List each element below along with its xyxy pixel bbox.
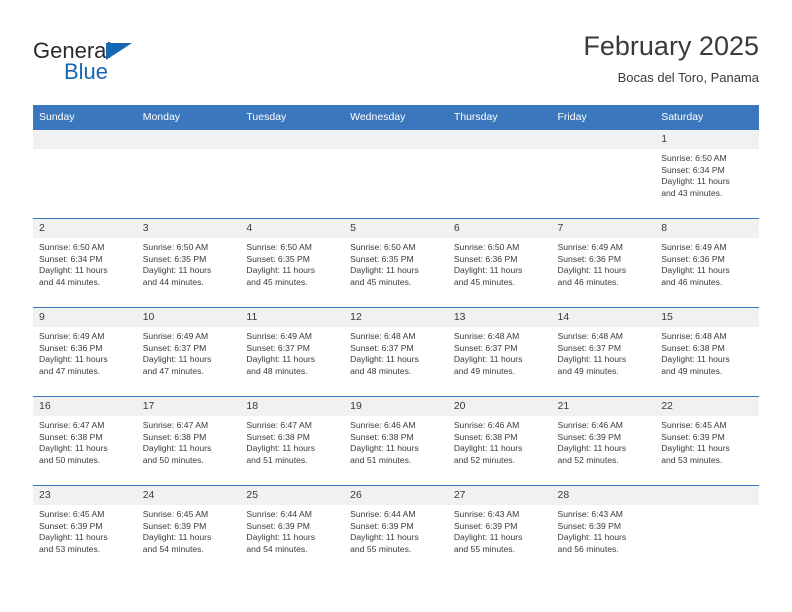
daylight-text-cont: and 55 minutes. (454, 544, 545, 556)
day-box (33, 130, 137, 218)
day-number: 9 (33, 308, 137, 327)
day-sun-info: Sunrise: 6:45 AMSunset: 6:39 PMDaylight:… (137, 505, 241, 555)
sunset-text: Sunset: 6:39 PM (661, 432, 752, 444)
day-sun-info: Sunrise: 6:49 AMSunset: 6:37 PMDaylight:… (240, 327, 344, 377)
day-cell-22[interactable]: 22Sunrise: 6:45 AMSunset: 6:39 PMDayligh… (655, 397, 759, 486)
daylight-text: Daylight: 11 hours (246, 265, 337, 277)
sunrise-text: Sunrise: 6:49 AM (558, 242, 649, 254)
day-cell-18[interactable]: 18Sunrise: 6:47 AMSunset: 6:38 PMDayligh… (240, 397, 344, 486)
day-cell-11[interactable]: 11Sunrise: 6:49 AMSunset: 6:37 PMDayligh… (240, 308, 344, 397)
day-cell-3[interactable]: 3Sunrise: 6:50 AMSunset: 6:35 PMDaylight… (137, 219, 241, 308)
day-cell-25[interactable]: 25Sunrise: 6:44 AMSunset: 6:39 PMDayligh… (240, 486, 344, 575)
daylight-text-cont: and 44 minutes. (143, 277, 234, 289)
day-number: 5 (344, 219, 448, 238)
sunset-text: Sunset: 6:37 PM (454, 343, 545, 355)
day-number: 22 (655, 397, 759, 416)
day-number: 18 (240, 397, 344, 416)
daylight-text-cont: and 48 minutes. (350, 366, 441, 378)
day-cell-7[interactable]: 7Sunrise: 6:49 AMSunset: 6:36 PMDaylight… (552, 219, 656, 308)
daylight-text-cont: and 46 minutes. (558, 277, 649, 289)
weekday-header-saturday: Saturday (655, 105, 759, 130)
day-cell-27[interactable]: 27Sunrise: 6:43 AMSunset: 6:39 PMDayligh… (448, 486, 552, 575)
day-number: 4 (240, 219, 344, 238)
day-cell-21[interactable]: 21Sunrise: 6:46 AMSunset: 6:39 PMDayligh… (552, 397, 656, 486)
sunrise-text: Sunrise: 6:49 AM (39, 331, 130, 343)
sunrise-text: Sunrise: 6:50 AM (246, 242, 337, 254)
sunset-text: Sunset: 6:38 PM (246, 432, 337, 444)
day-number: 17 (137, 397, 241, 416)
day-cell-26[interactable]: 26Sunrise: 6:44 AMSunset: 6:39 PMDayligh… (344, 486, 448, 575)
day-cell-12[interactable]: 12Sunrise: 6:48 AMSunset: 6:37 PMDayligh… (344, 308, 448, 397)
title-block: February 2025 Bocas del Toro, Panama (583, 30, 759, 88)
daylight-text-cont: and 52 minutes. (558, 455, 649, 467)
daylight-text: Daylight: 11 hours (558, 532, 649, 544)
day-number: 11 (240, 308, 344, 327)
sunset-text: Sunset: 6:37 PM (143, 343, 234, 355)
calendar-week-row: 23Sunrise: 6:45 AMSunset: 6:39 PMDayligh… (33, 486, 759, 575)
sunset-text: Sunset: 6:36 PM (454, 254, 545, 266)
sunset-text: Sunset: 6:35 PM (350, 254, 441, 266)
day-box: 19Sunrise: 6:46 AMSunset: 6:38 PMDayligh… (344, 397, 448, 485)
daylight-text-cont: and 45 minutes. (454, 277, 545, 289)
day-number (137, 130, 241, 149)
day-number: 3 (137, 219, 241, 238)
sunrise-text: Sunrise: 6:48 AM (661, 331, 752, 343)
day-number (240, 130, 344, 149)
weekday-header-row: SundayMondayTuesdayWednesdayThursdayFrid… (33, 105, 759, 130)
day-box: 7Sunrise: 6:49 AMSunset: 6:36 PMDaylight… (552, 219, 656, 307)
sunset-text: Sunset: 6:36 PM (558, 254, 649, 266)
sunrise-text: Sunrise: 6:47 AM (143, 420, 234, 432)
day-sun-info: Sunrise: 6:47 AMSunset: 6:38 PMDaylight:… (137, 416, 241, 466)
daylight-text-cont: and 54 minutes. (246, 544, 337, 556)
generalblue-logo[interactable]: General Blue (33, 38, 233, 90)
day-box: 4Sunrise: 6:50 AMSunset: 6:35 PMDaylight… (240, 219, 344, 307)
day-cell-6[interactable]: 6Sunrise: 6:50 AMSunset: 6:36 PMDaylight… (448, 219, 552, 308)
sunrise-text: Sunrise: 6:45 AM (143, 509, 234, 521)
weekday-header-sunday: Sunday (33, 105, 137, 130)
sunset-text: Sunset: 6:39 PM (558, 432, 649, 444)
sunset-text: Sunset: 6:38 PM (143, 432, 234, 444)
page-title: February 2025 (583, 30, 759, 62)
sunset-text: Sunset: 6:39 PM (558, 521, 649, 533)
day-box: 21Sunrise: 6:46 AMSunset: 6:39 PMDayligh… (552, 397, 656, 485)
daylight-text-cont: and 46 minutes. (661, 277, 752, 289)
day-box: 25Sunrise: 6:44 AMSunset: 6:39 PMDayligh… (240, 486, 344, 574)
sunset-text: Sunset: 6:34 PM (661, 165, 752, 177)
sunset-text: Sunset: 6:39 PM (454, 521, 545, 533)
day-number: 15 (655, 308, 759, 327)
day-cell-13[interactable]: 13Sunrise: 6:48 AMSunset: 6:37 PMDayligh… (448, 308, 552, 397)
daylight-text-cont: and 54 minutes. (143, 544, 234, 556)
sunset-text: Sunset: 6:39 PM (39, 521, 130, 533)
sunset-text: Sunset: 6:38 PM (39, 432, 130, 444)
day-cell-17[interactable]: 17Sunrise: 6:47 AMSunset: 6:38 PMDayligh… (137, 397, 241, 486)
day-cell-empty (344, 130, 448, 219)
day-box: 2Sunrise: 6:50 AMSunset: 6:34 PMDaylight… (33, 219, 137, 307)
daylight-text-cont: and 53 minutes. (661, 455, 752, 467)
daylight-text: Daylight: 11 hours (246, 354, 337, 366)
day-box: 1Sunrise: 6:50 AMSunset: 6:34 PMDaylight… (655, 130, 759, 218)
day-sun-info: Sunrise: 6:44 AMSunset: 6:39 PMDaylight:… (240, 505, 344, 555)
day-cell-8[interactable]: 8Sunrise: 6:49 AMSunset: 6:36 PMDaylight… (655, 219, 759, 308)
day-box: 6Sunrise: 6:50 AMSunset: 6:36 PMDaylight… (448, 219, 552, 307)
day-box: 26Sunrise: 6:44 AMSunset: 6:39 PMDayligh… (344, 486, 448, 574)
day-number: 25 (240, 486, 344, 505)
day-sun-info: Sunrise: 6:50 AMSunset: 6:35 PMDaylight:… (137, 238, 241, 288)
sunrise-text: Sunrise: 6:45 AM (39, 509, 130, 521)
day-cell-1[interactable]: 1Sunrise: 6:50 AMSunset: 6:34 PMDaylight… (655, 130, 759, 219)
daylight-text-cont: and 51 minutes. (246, 455, 337, 467)
day-cell-15[interactable]: 15Sunrise: 6:48 AMSunset: 6:38 PMDayligh… (655, 308, 759, 397)
sunrise-text: Sunrise: 6:48 AM (558, 331, 649, 343)
daylight-text: Daylight: 11 hours (454, 443, 545, 455)
day-box: 13Sunrise: 6:48 AMSunset: 6:37 PMDayligh… (448, 308, 552, 396)
calendar-week-row: 2Sunrise: 6:50 AMSunset: 6:34 PMDaylight… (33, 219, 759, 308)
sunset-text: Sunset: 6:38 PM (350, 432, 441, 444)
daylight-text-cont: and 56 minutes. (558, 544, 649, 556)
calendar-week-row: 9Sunrise: 6:49 AMSunset: 6:36 PMDaylight… (33, 308, 759, 397)
day-cell-23[interactable]: 23Sunrise: 6:45 AMSunset: 6:39 PMDayligh… (33, 486, 137, 575)
sunrise-text: Sunrise: 6:50 AM (143, 242, 234, 254)
day-sun-info: Sunrise: 6:43 AMSunset: 6:39 PMDaylight:… (448, 505, 552, 555)
sunset-text: Sunset: 6:36 PM (661, 254, 752, 266)
day-cell-14[interactable]: 14Sunrise: 6:48 AMSunset: 6:37 PMDayligh… (552, 308, 656, 397)
daylight-text: Daylight: 11 hours (143, 354, 234, 366)
day-box: 24Sunrise: 6:45 AMSunset: 6:39 PMDayligh… (137, 486, 241, 574)
day-number: 14 (552, 308, 656, 327)
sunrise-text: Sunrise: 6:46 AM (558, 420, 649, 432)
daylight-text-cont: and 49 minutes. (661, 366, 752, 378)
day-number (33, 130, 137, 149)
sunset-text: Sunset: 6:37 PM (350, 343, 441, 355)
calendar-page: General Blue February 2025 Bocas del Tor… (0, 0, 792, 612)
sunrise-text: Sunrise: 6:44 AM (246, 509, 337, 521)
day-number: 28 (552, 486, 656, 505)
day-sun-info: Sunrise: 6:49 AMSunset: 6:36 PMDaylight:… (33, 327, 137, 377)
weekday-header-thursday: Thursday (448, 105, 552, 130)
day-cell-16[interactable]: 16Sunrise: 6:47 AMSunset: 6:38 PMDayligh… (33, 397, 137, 486)
day-number: 12 (344, 308, 448, 327)
daylight-text: Daylight: 11 hours (661, 443, 752, 455)
sunset-text: Sunset: 6:38 PM (454, 432, 545, 444)
day-number: 6 (448, 219, 552, 238)
daylight-text: Daylight: 11 hours (39, 443, 130, 455)
sunset-text: Sunset: 6:34 PM (39, 254, 130, 266)
day-sun-info: Sunrise: 6:47 AMSunset: 6:38 PMDaylight:… (33, 416, 137, 466)
day-sun-info: Sunrise: 6:49 AMSunset: 6:37 PMDaylight:… (137, 327, 241, 377)
calendar-week-row: 1Sunrise: 6:50 AMSunset: 6:34 PMDaylight… (33, 130, 759, 219)
daylight-text: Daylight: 11 hours (454, 532, 545, 544)
day-sun-info: Sunrise: 6:50 AMSunset: 6:35 PMDaylight:… (344, 238, 448, 288)
sunset-text: Sunset: 6:37 PM (558, 343, 649, 355)
sunrise-text: Sunrise: 6:44 AM (350, 509, 441, 521)
day-box: 17Sunrise: 6:47 AMSunset: 6:38 PMDayligh… (137, 397, 241, 485)
day-box: 16Sunrise: 6:47 AMSunset: 6:38 PMDayligh… (33, 397, 137, 485)
day-box: 22Sunrise: 6:45 AMSunset: 6:39 PMDayligh… (655, 397, 759, 485)
day-number: 1 (655, 130, 759, 149)
sunrise-text: Sunrise: 6:47 AM (246, 420, 337, 432)
daylight-text: Daylight: 11 hours (39, 354, 130, 366)
day-sun-info: Sunrise: 6:48 AMSunset: 6:37 PMDaylight:… (344, 327, 448, 377)
day-sun-info: Sunrise: 6:46 AMSunset: 6:38 PMDaylight:… (344, 416, 448, 466)
day-sun-info: Sunrise: 6:49 AMSunset: 6:36 PMDaylight:… (552, 238, 656, 288)
daylight-text: Daylight: 11 hours (143, 265, 234, 277)
day-box: 9Sunrise: 6:49 AMSunset: 6:36 PMDaylight… (33, 308, 137, 396)
day-sun-info: Sunrise: 6:47 AMSunset: 6:38 PMDaylight:… (240, 416, 344, 466)
daylight-text: Daylight: 11 hours (558, 354, 649, 366)
sunset-text: Sunset: 6:39 PM (350, 521, 441, 533)
daylight-text-cont: and 44 minutes. (39, 277, 130, 289)
location-subtitle: Bocas del Toro, Panama (583, 68, 759, 88)
day-sun-info: Sunrise: 6:48 AMSunset: 6:37 PMDaylight:… (448, 327, 552, 377)
daylight-text-cont: and 50 minutes. (39, 455, 130, 467)
daylight-text-cont: and 50 minutes. (143, 455, 234, 467)
daylight-text: Daylight: 11 hours (454, 354, 545, 366)
daylight-text-cont: and 47 minutes. (143, 366, 234, 378)
day-sun-info: Sunrise: 6:44 AMSunset: 6:39 PMDaylight:… (344, 505, 448, 555)
day-number: 2 (33, 219, 137, 238)
daylight-text-cont: and 49 minutes. (454, 366, 545, 378)
day-box: 12Sunrise: 6:48 AMSunset: 6:37 PMDayligh… (344, 308, 448, 396)
daylight-text-cont: and 47 minutes. (39, 366, 130, 378)
day-number: 13 (448, 308, 552, 327)
daylight-text-cont: and 49 minutes. (558, 366, 649, 378)
calendar-body: 1Sunrise: 6:50 AMSunset: 6:34 PMDaylight… (33, 130, 759, 575)
sunset-text: Sunset: 6:35 PM (246, 254, 337, 266)
day-sun-info: Sunrise: 6:48 AMSunset: 6:38 PMDaylight:… (655, 327, 759, 377)
day-box (655, 486, 759, 574)
day-cell-4[interactable]: 4Sunrise: 6:50 AMSunset: 6:35 PMDaylight… (240, 219, 344, 308)
day-cell-empty (137, 130, 241, 219)
daylight-text-cont: and 53 minutes. (39, 544, 130, 556)
day-box: 10Sunrise: 6:49 AMSunset: 6:37 PMDayligh… (137, 308, 241, 396)
sunrise-text: Sunrise: 6:46 AM (454, 420, 545, 432)
weekday-header-wednesday: Wednesday (344, 105, 448, 130)
day-box: 27Sunrise: 6:43 AMSunset: 6:39 PMDayligh… (448, 486, 552, 574)
daylight-text: Daylight: 11 hours (246, 443, 337, 455)
daylight-text: Daylight: 11 hours (350, 354, 441, 366)
logo-text-blue: Blue (64, 59, 108, 85)
day-box: 18Sunrise: 6:47 AMSunset: 6:38 PMDayligh… (240, 397, 344, 485)
page-header: General Blue February 2025 Bocas del Tor… (33, 30, 759, 98)
sunrise-text: Sunrise: 6:50 AM (39, 242, 130, 254)
day-cell-28[interactable]: 28Sunrise: 6:43 AMSunset: 6:39 PMDayligh… (552, 486, 656, 575)
day-box: 8Sunrise: 6:49 AMSunset: 6:36 PMDaylight… (655, 219, 759, 307)
daylight-text: Daylight: 11 hours (661, 354, 752, 366)
sunrise-sunset-calendar: SundayMondayTuesdayWednesdayThursdayFrid… (33, 105, 759, 574)
day-box (137, 130, 241, 218)
day-cell-empty (552, 130, 656, 219)
sunset-text: Sunset: 6:36 PM (39, 343, 130, 355)
sunrise-text: Sunrise: 6:49 AM (143, 331, 234, 343)
day-sun-info: Sunrise: 6:49 AMSunset: 6:36 PMDaylight:… (655, 238, 759, 288)
sunrise-text: Sunrise: 6:46 AM (350, 420, 441, 432)
day-number: 16 (33, 397, 137, 416)
sunrise-text: Sunrise: 6:50 AM (454, 242, 545, 254)
day-cell-9[interactable]: 9Sunrise: 6:49 AMSunset: 6:36 PMDaylight… (33, 308, 137, 397)
daylight-text: Daylight: 11 hours (558, 443, 649, 455)
day-box: 15Sunrise: 6:48 AMSunset: 6:38 PMDayligh… (655, 308, 759, 396)
calendar-week-row: 16Sunrise: 6:47 AMSunset: 6:38 PMDayligh… (33, 397, 759, 486)
day-number (344, 130, 448, 149)
weekday-header-friday: Friday (552, 105, 656, 130)
sunrise-text: Sunrise: 6:49 AM (246, 331, 337, 343)
day-sun-info: Sunrise: 6:50 AMSunset: 6:36 PMDaylight:… (448, 238, 552, 288)
day-box: 3Sunrise: 6:50 AMSunset: 6:35 PMDaylight… (137, 219, 241, 307)
daylight-text: Daylight: 11 hours (246, 532, 337, 544)
day-number: 23 (33, 486, 137, 505)
day-number: 19 (344, 397, 448, 416)
day-number: 10 (137, 308, 241, 327)
day-sun-info: Sunrise: 6:50 AMSunset: 6:35 PMDaylight:… (240, 238, 344, 288)
sunset-text: Sunset: 6:39 PM (143, 521, 234, 533)
day-sun-info: Sunrise: 6:48 AMSunset: 6:37 PMDaylight:… (552, 327, 656, 377)
day-number: 26 (344, 486, 448, 505)
day-sun-info: Sunrise: 6:43 AMSunset: 6:39 PMDaylight:… (552, 505, 656, 555)
sunrise-text: Sunrise: 6:43 AM (454, 509, 545, 521)
daylight-text-cont: and 52 minutes. (454, 455, 545, 467)
day-sun-info: Sunrise: 6:45 AMSunset: 6:39 PMDaylight:… (655, 416, 759, 466)
day-cell-20[interactable]: 20Sunrise: 6:46 AMSunset: 6:38 PMDayligh… (448, 397, 552, 486)
day-number: 24 (137, 486, 241, 505)
daylight-text: Daylight: 11 hours (143, 532, 234, 544)
daylight-text-cont: and 48 minutes. (246, 366, 337, 378)
daylight-text: Daylight: 11 hours (661, 176, 752, 188)
day-cell-10[interactable]: 10Sunrise: 6:49 AMSunset: 6:37 PMDayligh… (137, 308, 241, 397)
daylight-text: Daylight: 11 hours (350, 443, 441, 455)
daylight-text: Daylight: 11 hours (350, 532, 441, 544)
daylight-text: Daylight: 11 hours (661, 265, 752, 277)
day-number: 7 (552, 219, 656, 238)
day-cell-empty (655, 486, 759, 575)
day-sun-info: Sunrise: 6:46 AMSunset: 6:39 PMDaylight:… (552, 416, 656, 466)
day-box: 20Sunrise: 6:46 AMSunset: 6:38 PMDayligh… (448, 397, 552, 485)
day-cell-5[interactable]: 5Sunrise: 6:50 AMSunset: 6:35 PMDaylight… (344, 219, 448, 308)
sunset-text: Sunset: 6:37 PM (246, 343, 337, 355)
day-box (344, 130, 448, 218)
daylight-text: Daylight: 11 hours (143, 443, 234, 455)
daylight-text: Daylight: 11 hours (558, 265, 649, 277)
day-number: 20 (448, 397, 552, 416)
sunrise-text: Sunrise: 6:48 AM (454, 331, 545, 343)
day-box: 5Sunrise: 6:50 AMSunset: 6:35 PMDaylight… (344, 219, 448, 307)
daylight-text-cont: and 55 minutes. (350, 544, 441, 556)
day-cell-empty (240, 130, 344, 219)
day-sun-info: Sunrise: 6:45 AMSunset: 6:39 PMDaylight:… (33, 505, 137, 555)
logo-triangle-icon (106, 43, 132, 60)
day-number: 8 (655, 219, 759, 238)
daylight-text-cont: and 45 minutes. (246, 277, 337, 289)
sunset-text: Sunset: 6:35 PM (143, 254, 234, 266)
daylight-text-cont: and 45 minutes. (350, 277, 441, 289)
daylight-text: Daylight: 11 hours (39, 265, 130, 277)
day-number (552, 130, 656, 149)
daylight-text-cont: and 43 minutes. (661, 188, 752, 200)
day-cell-24[interactable]: 24Sunrise: 6:45 AMSunset: 6:39 PMDayligh… (137, 486, 241, 575)
daylight-text: Daylight: 11 hours (39, 532, 130, 544)
day-cell-19[interactable]: 19Sunrise: 6:46 AMSunset: 6:38 PMDayligh… (344, 397, 448, 486)
daylight-text-cont: and 51 minutes. (350, 455, 441, 467)
day-cell-empty (448, 130, 552, 219)
daylight-text: Daylight: 11 hours (350, 265, 441, 277)
day-number (655, 486, 759, 505)
sunrise-text: Sunrise: 6:45 AM (661, 420, 752, 432)
sunrise-text: Sunrise: 6:47 AM (39, 420, 130, 432)
day-sun-info: Sunrise: 6:50 AMSunset: 6:34 PMDaylight:… (655, 149, 759, 199)
day-number: 21 (552, 397, 656, 416)
sunrise-text: Sunrise: 6:50 AM (350, 242, 441, 254)
day-box (448, 130, 552, 218)
sunset-text: Sunset: 6:39 PM (246, 521, 337, 533)
day-box: 23Sunrise: 6:45 AMSunset: 6:39 PMDayligh… (33, 486, 137, 574)
day-number: 27 (448, 486, 552, 505)
day-box (552, 130, 656, 218)
daylight-text: Daylight: 11 hours (454, 265, 545, 277)
sunset-text: Sunset: 6:38 PM (661, 343, 752, 355)
day-box: 11Sunrise: 6:49 AMSunset: 6:37 PMDayligh… (240, 308, 344, 396)
day-number (448, 130, 552, 149)
weekday-header-tuesday: Tuesday (240, 105, 344, 130)
day-sun-info: Sunrise: 6:50 AMSunset: 6:34 PMDaylight:… (33, 238, 137, 288)
sunrise-text: Sunrise: 6:43 AM (558, 509, 649, 521)
weekday-header-monday: Monday (137, 105, 241, 130)
sunrise-text: Sunrise: 6:48 AM (350, 331, 441, 343)
day-cell-empty (33, 130, 137, 219)
day-cell-2[interactable]: 2Sunrise: 6:50 AMSunset: 6:34 PMDaylight… (33, 219, 137, 308)
sunrise-text: Sunrise: 6:50 AM (661, 153, 752, 165)
sunrise-text: Sunrise: 6:49 AM (661, 242, 752, 254)
day-sun-info: Sunrise: 6:46 AMSunset: 6:38 PMDaylight:… (448, 416, 552, 466)
day-box: 28Sunrise: 6:43 AMSunset: 6:39 PMDayligh… (552, 486, 656, 574)
day-box (240, 130, 344, 218)
day-box: 14Sunrise: 6:48 AMSunset: 6:37 PMDayligh… (552, 308, 656, 396)
